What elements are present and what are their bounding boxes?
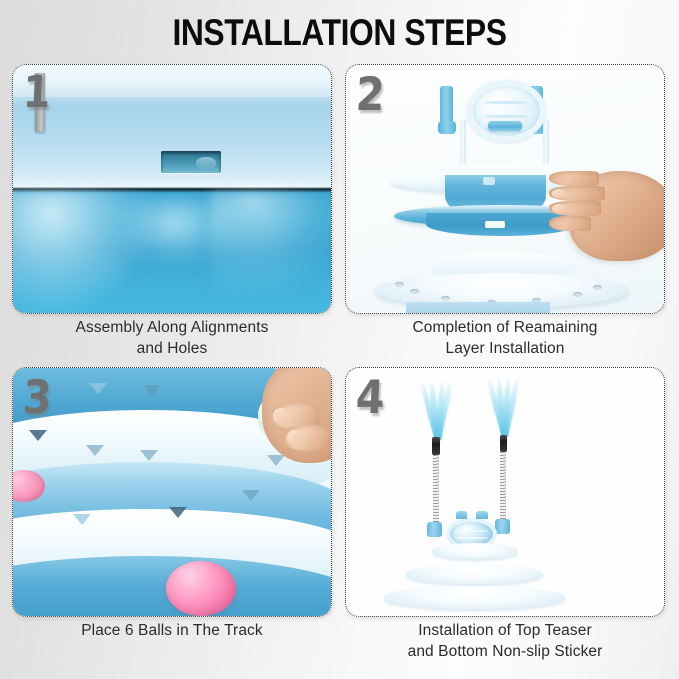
finger-index (549, 171, 599, 186)
finger-little (549, 216, 591, 231)
top-ball-cage (467, 80, 547, 142)
step-3-photo: 3 (12, 367, 332, 617)
step-1-photo: 1 (12, 64, 332, 314)
base-skirt (406, 302, 549, 314)
hand-holding-tier (546, 169, 665, 263)
step-card-4: 4 Installation of Top Teaser and Bottom … (345, 367, 665, 617)
feather-ferrule-right (500, 435, 507, 452)
step-1-caption-line-2: and Holes (0, 338, 346, 359)
step-numeral-1: 1 (22, 71, 50, 115)
fingernail-index (273, 408, 288, 423)
teaser-spring-right (500, 452, 506, 529)
ball-pink-lower-track (166, 561, 236, 616)
alignment-slot (161, 151, 221, 173)
step-1-caption-line-1: Assembly Along Alignments (0, 317, 346, 338)
fingernail-thumb (287, 430, 302, 445)
tier-2-deck (406, 564, 543, 584)
arch-stem-left (460, 120, 465, 165)
step-2-caption-line-2: Layer Installation (331, 338, 679, 359)
arch-stem-right (543, 120, 548, 165)
step-4-photo: 4 (345, 367, 665, 617)
step-2-photo: 2 (345, 64, 665, 314)
teaser-spring-left (433, 455, 439, 529)
step-numeral-2: 2 (355, 71, 386, 117)
track-tooth (73, 514, 91, 525)
tier-1-deck (432, 543, 518, 559)
step-2-caption: Completion of Reamaining Layer Installat… (331, 317, 679, 359)
step-card-3: 3 Place 6 Balls in The Track (12, 367, 332, 617)
feather-teaser-right (492, 375, 514, 437)
step-card-1: 1 Assembly Along Alignments and Holes (12, 64, 332, 314)
installation-steps-infographic: INSTALLATION STEPS 1 Assembly Along Alig… (0, 0, 679, 679)
step-4-caption-line-1: Installation of Top Teaser (331, 620, 679, 641)
step-numeral-4: 4 (355, 374, 386, 420)
step-4-caption-line-2: and Bottom Non-slip Sticker (331, 641, 679, 662)
track-tooth (29, 430, 47, 441)
step-1-caption: Assembly Along Alignments and Holes (0, 317, 346, 359)
track-tooth (143, 385, 161, 396)
cage-clip (488, 121, 523, 131)
gloss-reflection-right (210, 191, 332, 295)
teaser-post-left (440, 86, 454, 126)
step-numeral-3: 3 (22, 374, 53, 420)
step-4-caption: Installation of Top Teaser and Bottom No… (331, 620, 679, 662)
cage-clips (456, 511, 488, 519)
step-card-2: 2 Completion of Reamaining Layer Install… (345, 64, 665, 314)
track-tooth (140, 450, 158, 461)
step-3-caption-line-1: Place 6 Balls in The Track (0, 620, 346, 641)
feather-ferrule-left (432, 437, 439, 454)
track-tooth (86, 445, 104, 456)
hand-placing-ball (252, 367, 333, 477)
top-highlight-band (13, 65, 331, 97)
teaser-socket-left (427, 522, 442, 537)
step-3-caption: Place 6 Balls in The Track (0, 620, 346, 641)
middle-tier-wall (445, 175, 547, 207)
track-tooth (242, 490, 260, 501)
track-tooth (89, 383, 107, 394)
step-2-caption-line-1: Completion of Reamaining (331, 317, 679, 338)
feather-teaser-left (426, 378, 448, 440)
teaser-socket-right (495, 519, 510, 534)
page-title: INSTALLATION STEPS (48, 12, 632, 54)
track-tooth (169, 507, 187, 518)
tier-3-deck (384, 586, 565, 608)
